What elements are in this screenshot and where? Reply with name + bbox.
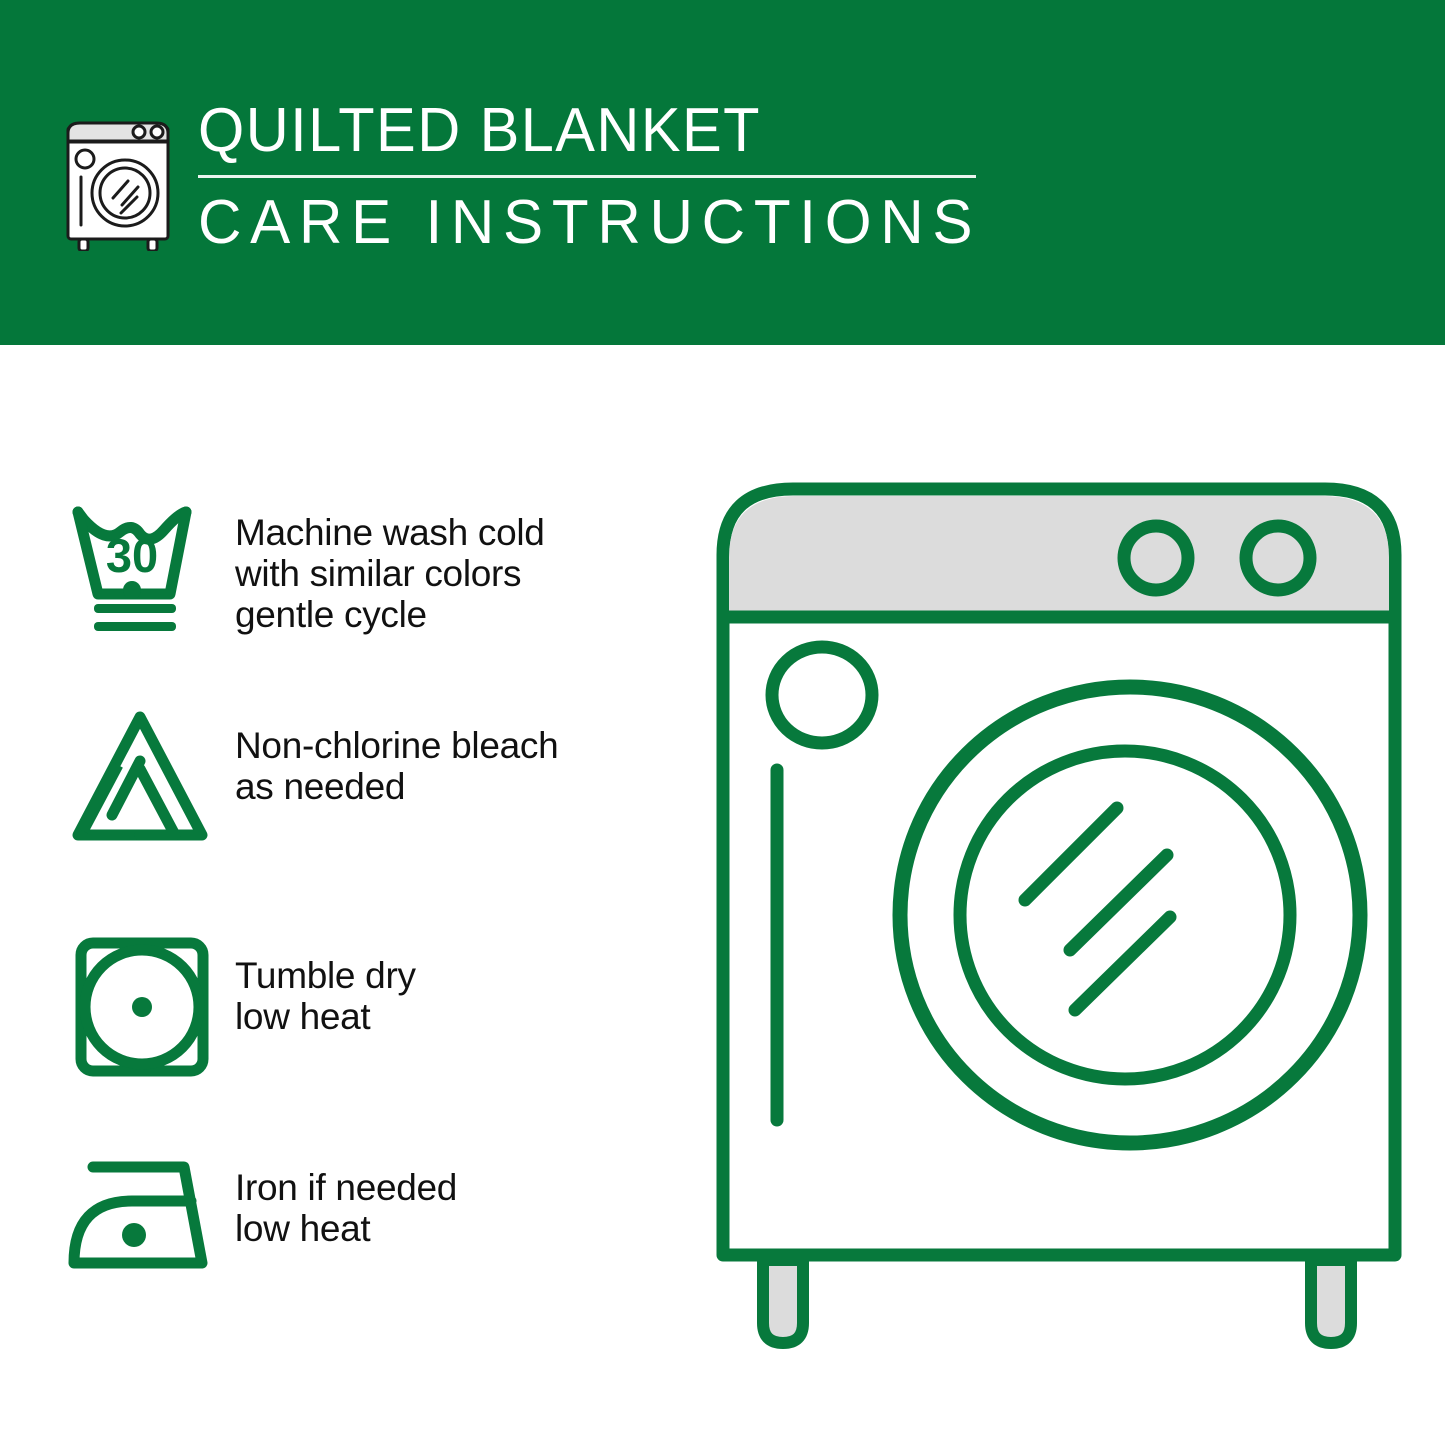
care-line: low heat xyxy=(235,996,680,1037)
care-instructions-list: 30 Machine wash cold with similar colors… xyxy=(0,345,700,1445)
care-line: Non-chlorine bleach xyxy=(235,725,680,766)
care-line: gentle cycle xyxy=(235,594,680,635)
non-chlorine-bleach-triangle-icon xyxy=(60,703,235,863)
care-row-tumble-dry: Tumble dry low heat xyxy=(60,933,680,1093)
care-row-machine-wash: 30 Machine wash cold with similar colors… xyxy=(60,490,680,650)
title-divider xyxy=(198,175,976,178)
page-title: QUILTED BLANKET xyxy=(198,95,973,167)
wash-tub-30-icon: 30 xyxy=(60,490,235,650)
control-panel xyxy=(729,496,1389,615)
care-line: with similar colors xyxy=(235,553,680,594)
care-line: Iron if needed xyxy=(235,1167,680,1208)
washing-machine-icon xyxy=(60,101,180,251)
care-text-tumble-dry: Tumble dry low heat xyxy=(235,933,680,1037)
header-content: QUILTED BLANKET CARE INSTRUCTIONS xyxy=(60,95,1000,265)
care-line: low heat xyxy=(235,1208,680,1249)
machine-legs xyxy=(763,1260,1351,1343)
tumble-dry-low-icon xyxy=(60,933,235,1093)
care-text-iron: Iron if needed low heat xyxy=(235,1145,680,1249)
header-band: QUILTED BLANKET CARE INSTRUCTIONS xyxy=(0,0,1445,345)
header-text-block: QUILTED BLANKET CARE INSTRUCTIONS xyxy=(198,95,1005,258)
care-text-bleach: Non-chlorine bleach as needed xyxy=(235,703,680,807)
care-row-iron: Iron if needed low heat xyxy=(60,1145,680,1305)
care-text-machine-wash: Machine wash cold with similar colors ge… xyxy=(235,490,680,635)
care-line: Tumble dry xyxy=(235,955,680,996)
page-subtitle: CARE INSTRUCTIONS xyxy=(198,188,981,258)
iron-low-heat-icon xyxy=(60,1145,235,1305)
washing-machine-illustration xyxy=(705,465,1415,1370)
care-instructions-page: QUILTED BLANKET CARE INSTRUCTIONS 30 xyxy=(0,0,1445,1445)
care-row-bleach: Non-chlorine bleach as needed xyxy=(60,703,680,863)
care-line: Machine wash cold xyxy=(235,512,680,553)
wash-temp-label: 30 xyxy=(106,529,158,582)
care-line: as needed xyxy=(235,766,680,807)
